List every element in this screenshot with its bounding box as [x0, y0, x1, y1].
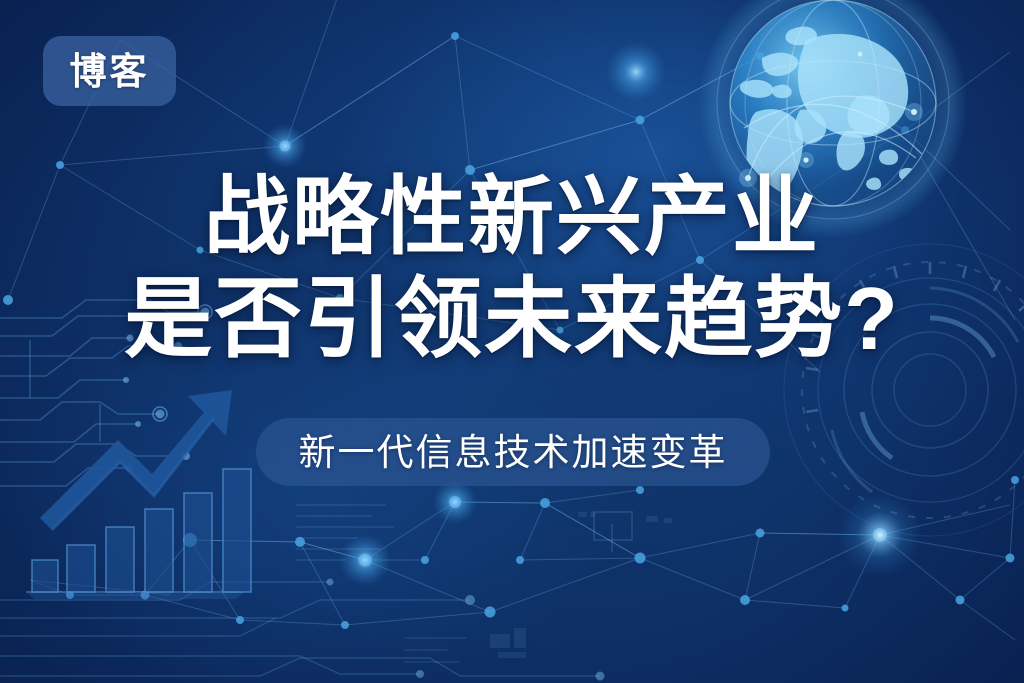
subtitle-label: 新一代信息技术加速变革 [299, 434, 728, 471]
blog-badge-label: 博客 [70, 53, 150, 90]
blog-banner: 博客 战略性新兴产业 是否引领未来趋势? 新一代信息技术加速变革 [0, 0, 1024, 683]
blog-badge[interactable]: 博客 [43, 36, 176, 106]
subtitle-pill: 新一代信息技术加速变革 [256, 418, 770, 486]
